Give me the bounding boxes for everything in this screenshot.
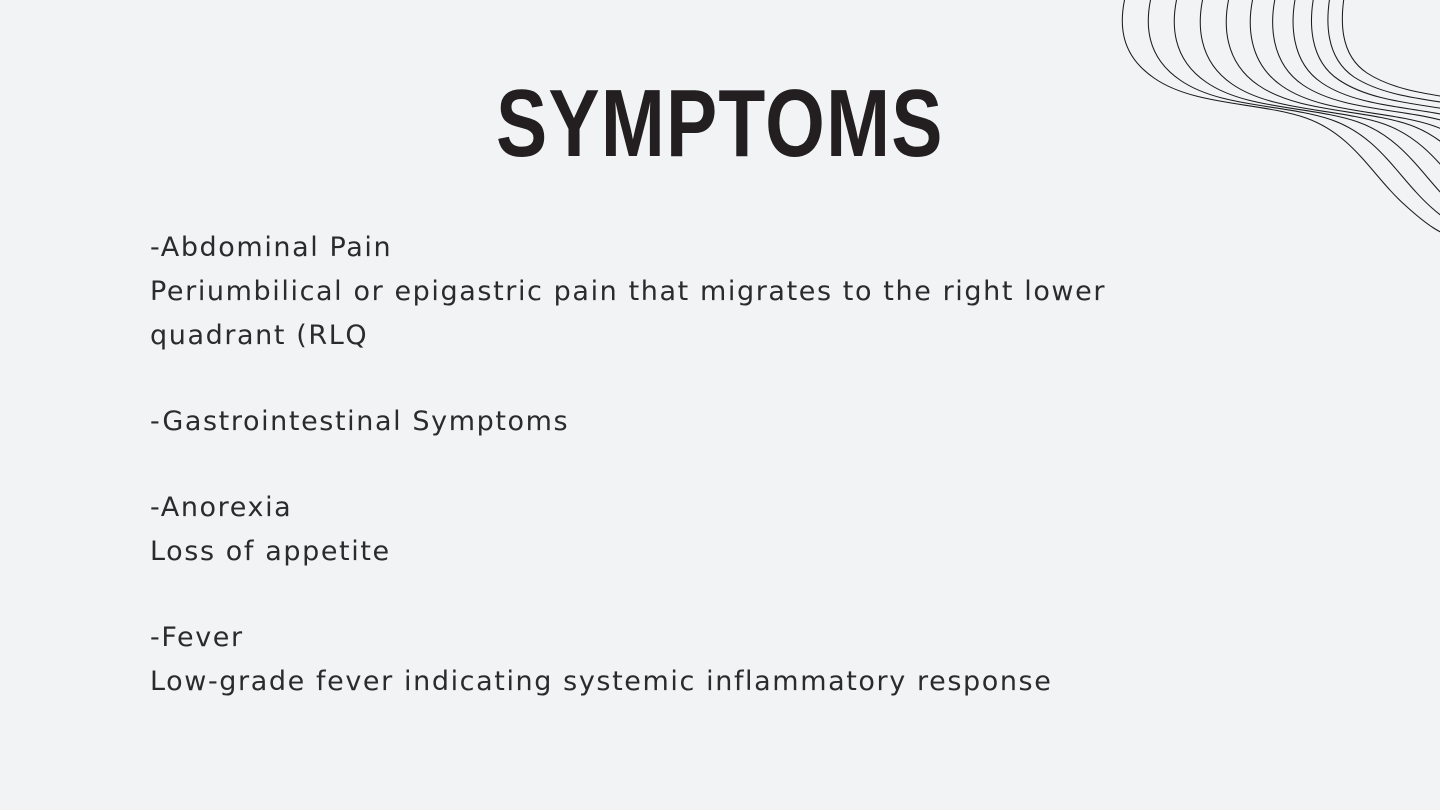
symptom-block-fever: -Fever Low-grade fever indicating system… xyxy=(150,616,1330,704)
symptom-detail: Low-grade fever indicating systemic infl… xyxy=(150,660,1110,704)
slide-canvas: SYMPTOMS -Abdominal Pain Periumbilical o… xyxy=(0,0,1440,810)
symptom-heading: -Fever xyxy=(150,616,1330,660)
symptom-detail: Periumbilical or epigastric pain that mi… xyxy=(150,270,1110,358)
symptom-block-gastrointestinal: -Gastrointestinal Symptoms xyxy=(150,400,1330,444)
symptom-block-abdominal-pain: -Abdominal Pain Periumbilical or epigast… xyxy=(150,226,1330,358)
symptom-heading: -Anorexia xyxy=(150,486,1330,530)
symptom-block-anorexia: -Anorexia Loss of appetite xyxy=(150,486,1330,574)
symptom-detail: Loss of appetite xyxy=(150,530,1110,574)
title-container: SYMPTOMS xyxy=(0,78,1440,169)
symptom-list: -Abdominal Pain Periumbilical or epigast… xyxy=(150,226,1330,704)
symptom-heading: -Abdominal Pain xyxy=(150,226,1330,270)
symptom-heading: -Gastrointestinal Symptoms xyxy=(150,400,1330,444)
page-title: SYMPTOMS xyxy=(496,78,944,169)
